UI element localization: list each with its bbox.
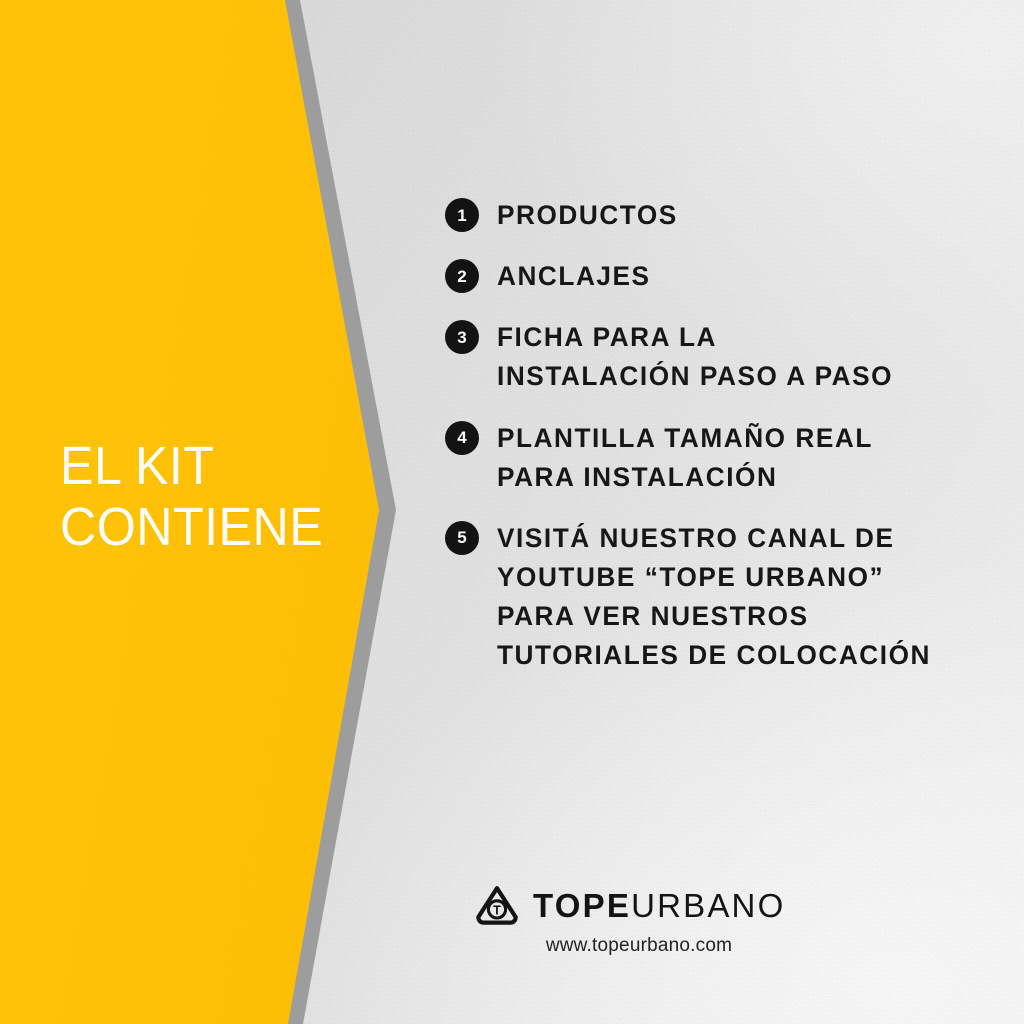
list-item-number-badge: 4 (445, 421, 479, 455)
list-item-number-badge: 5 (445, 521, 479, 555)
list-item-label: PLANTILLA TAMAÑO REAL PARA INSTALACIÓN (497, 419, 873, 497)
brand-wordmark: TOPEURBANO (533, 889, 785, 922)
list-item: 3 FICHA PARA LA INSTALACIÓN PASO A PASO (445, 318, 985, 396)
tope-urbano-triangle-logo-icon: T (474, 884, 520, 926)
list-item-label: ANCLAJES (497, 257, 651, 296)
list-item-number-badge: 1 (445, 198, 479, 232)
brand-logo-row: T TOPEURBANO (474, 884, 804, 926)
list-item-label: VISITÁ NUESTRO CANAL DE YOUTUBE “TOPE UR… (497, 519, 931, 676)
page-title: EL KIT CONTIENE (60, 436, 339, 558)
list-item-label: PRODUCTOS (497, 196, 678, 235)
brand-footer: T TOPEURBANO www.topeurbano.com (474, 884, 804, 957)
list-item: 2 ANCLAJES (445, 257, 985, 296)
list-item: 1 PRODUCTOS (445, 196, 985, 235)
list-item-number-badge: 3 (445, 320, 479, 354)
brand-name-bold: TOPE (533, 887, 631, 924)
list-item: 4 PLANTILLA TAMAÑO REAL PARA INSTALACIÓN (445, 419, 985, 497)
poster-canvas: EL KIT CONTIENE 1 PRODUCTOS 2 ANCLAJES 3… (0, 0, 1024, 1024)
list-item-number-badge: 2 (445, 259, 479, 293)
website-url: www.topeurbano.com (474, 935, 804, 957)
list-item-label: FICHA PARA LA INSTALACIÓN PASO A PASO (497, 318, 893, 396)
logo-letter: T (493, 903, 501, 917)
brand-name-light: URBANO (631, 887, 785, 924)
list-item: 5 VISITÁ NUESTRO CANAL DE YOUTUBE “TOPE … (445, 519, 985, 676)
kit-contents-list: 1 PRODUCTOS 2 ANCLAJES 3 FICHA PARA LA I… (445, 196, 985, 697)
